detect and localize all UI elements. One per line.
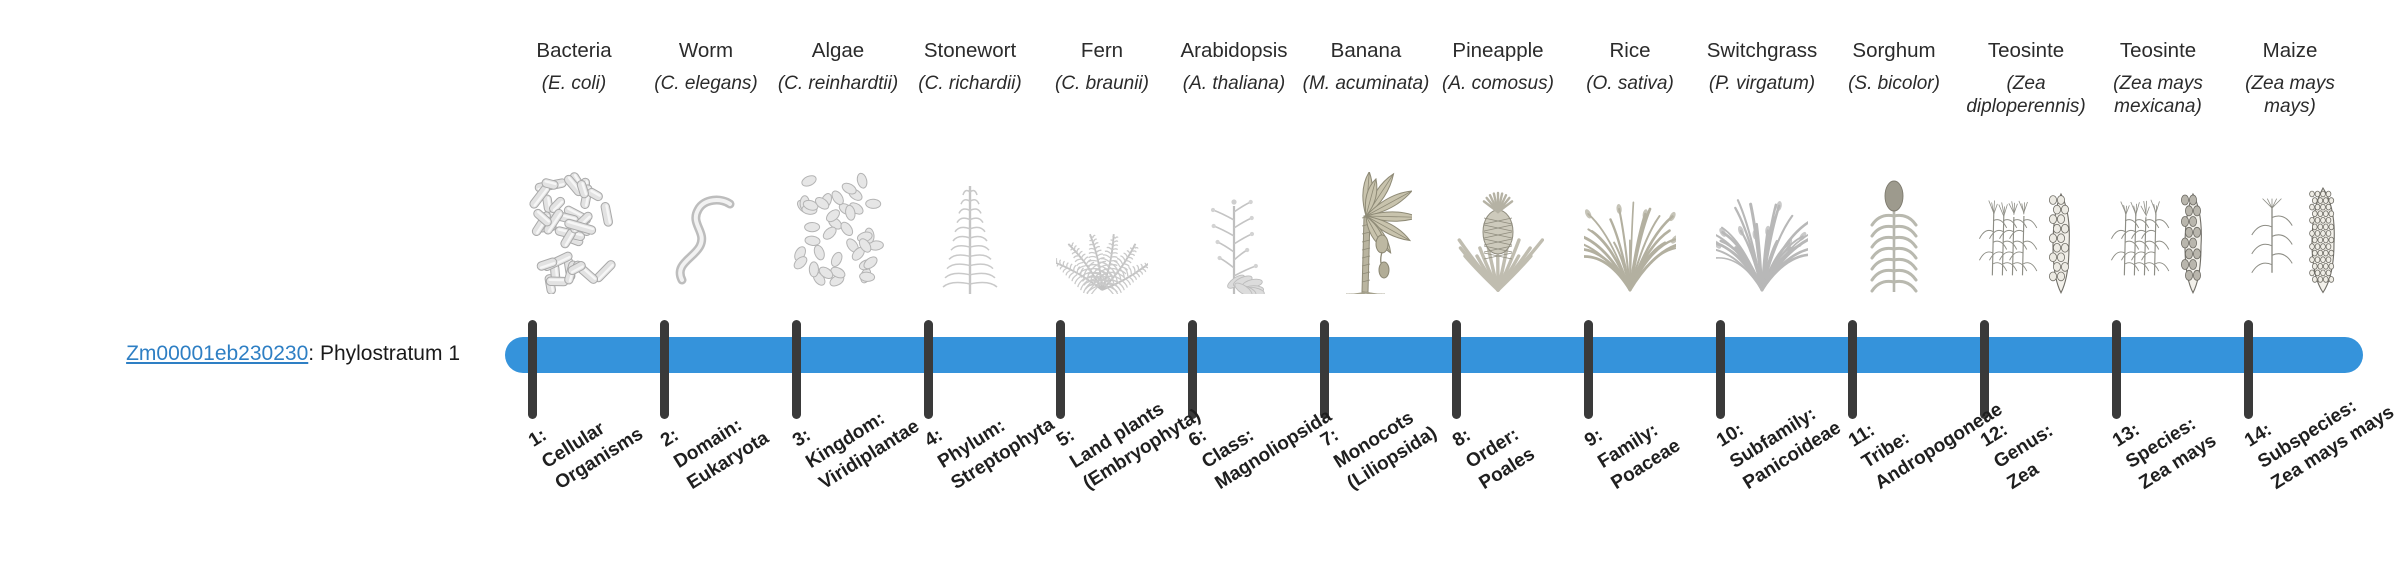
species-column-header: Arabidopsis(A. thaliana): [1165, 38, 1303, 120]
species-common-name: Stonewort: [901, 38, 1039, 66]
species-common-name: Fern: [1033, 38, 1171, 66]
species-common-name: Algae: [769, 38, 907, 66]
arabidopsis-illustration: [1165, 168, 1303, 294]
species-column-header: Pineapple(A. comosus): [1429, 38, 1567, 120]
banana-illustration: [1297, 168, 1435, 294]
species-column-header: Switchgrass(P. virgatum): [1693, 38, 1831, 120]
species-scientific-name: (A. thaliana): [1165, 72, 1303, 120]
teosinte-diploperennis-illustration: [1957, 168, 2095, 294]
species-common-name: Pineapple: [1429, 38, 1567, 66]
algae-illustration: [769, 168, 907, 294]
teosinte-mexicana-illustration: [2089, 168, 2227, 294]
species-scientific-name: (A. comosus): [1429, 72, 1567, 120]
stonewort-illustration: [901, 168, 1039, 294]
species-common-name: Teosinte: [2089, 38, 2227, 66]
bacteria-illustration: [505, 168, 643, 294]
species-common-name: Rice: [1561, 38, 1699, 66]
species-common-name: Sorghum: [1825, 38, 1963, 66]
species-column-header: Worm(C. elegans): [637, 38, 775, 120]
species-common-name: Banana: [1297, 38, 1435, 66]
species-column-header: Teosinte(Zea diploperennis): [1957, 38, 2095, 120]
maize-illustration: [2221, 168, 2359, 294]
phylostratum-timeline-figure: Zm00001eb230230: Phylostratum 1 Bacteria…: [0, 0, 2400, 580]
species-scientific-name: (P. virgatum): [1693, 72, 1831, 120]
species-scientific-name: (C. reinhardtii): [769, 72, 907, 120]
species-column-header: Banana(M. acuminata): [1297, 38, 1435, 120]
species-scientific-name: (Zea mays mays): [2221, 72, 2359, 120]
worm-illustration: [637, 168, 775, 294]
species-common-name: Maize: [2221, 38, 2359, 66]
phylostratum-tick: [528, 320, 537, 419]
species-common-name: Switchgrass: [1693, 38, 1831, 66]
pineapple-illustration: [1429, 168, 1567, 294]
species-common-name: Bacteria: [505, 38, 643, 66]
gene-id-link[interactable]: Zm00001eb230230: [126, 342, 308, 365]
species-column-header: Rice(O. sativa): [1561, 38, 1699, 120]
species-common-name: Arabidopsis: [1165, 38, 1303, 66]
species-column-header: Algae(C. reinhardtii): [769, 38, 907, 120]
species-common-name: Worm: [637, 38, 775, 66]
sorghum-illustration: [1825, 168, 1963, 294]
species-column-header: Sorghum(S. bicolor): [1825, 38, 1963, 120]
species-scientific-name: (C. elegans): [637, 72, 775, 120]
species-common-name: Teosinte: [1957, 38, 2095, 66]
species-scientific-name: (O. sativa): [1561, 72, 1699, 120]
switchgrass-illustration: [1693, 168, 1831, 294]
phylostratum-value: Phylostratum 1: [320, 342, 460, 365]
species-scientific-name: (M. acuminata): [1297, 72, 1435, 120]
species-column-header: Bacteria(E. coli): [505, 38, 643, 120]
species-scientific-name: (C. braunii): [1033, 72, 1171, 120]
species-column-header: Fern(C. braunii): [1033, 38, 1171, 120]
fern-illustration: [1033, 168, 1171, 294]
species-column-header: Teosinte(Zea mays mexicana): [2089, 38, 2227, 120]
species-scientific-name: (S. bicolor): [1825, 72, 1963, 120]
species-column-header: Stonewort(C. richardii): [901, 38, 1039, 120]
species-scientific-name: (C. richardii): [901, 72, 1039, 120]
species-column-header: Maize(Zea mays mays): [2221, 38, 2359, 120]
species-scientific-name: (Zea diploperennis): [1957, 72, 2095, 120]
gene-phylostratum-label: Zm00001eb230230: Phylostratum 1: [40, 341, 460, 367]
gene-label-separator: :: [308, 342, 320, 365]
rice-illustration: [1561, 168, 1699, 294]
species-scientific-name: (Zea mays mexicana): [2089, 72, 2227, 120]
species-scientific-name: (E. coli): [505, 72, 643, 120]
